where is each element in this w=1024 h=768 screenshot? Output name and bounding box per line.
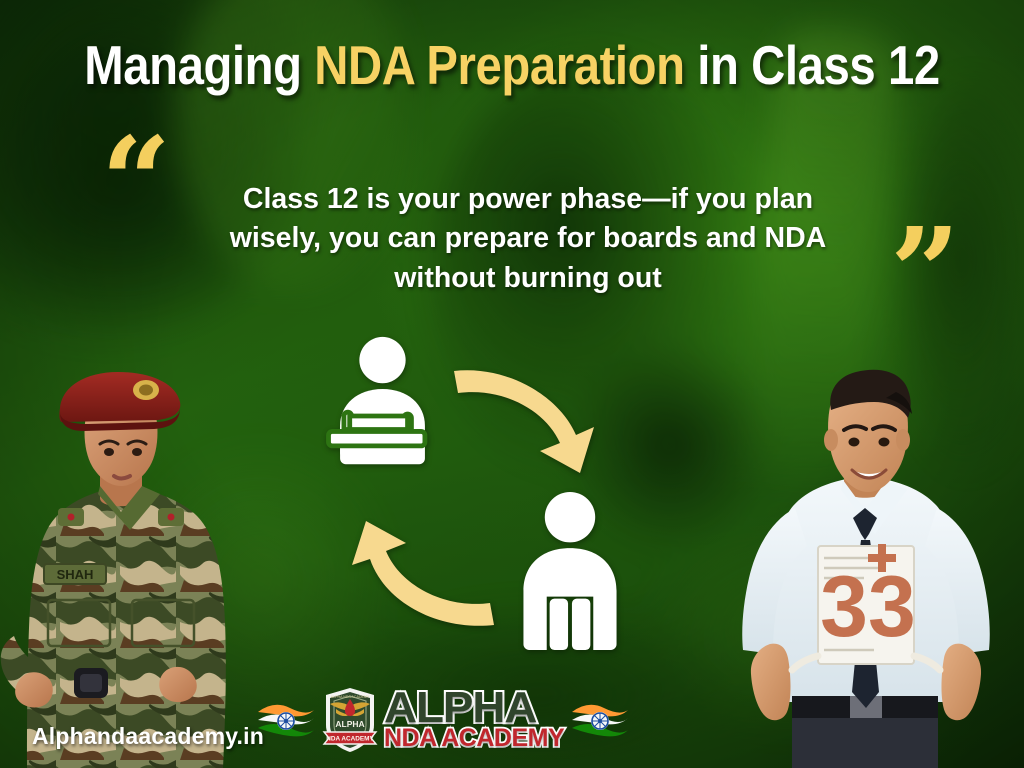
army-officer-photo: SHAH	[0, 368, 246, 768]
brand-lockup: ALPHA NDA ACADEMY ALPHA NDA ACADEMY ALPH…	[256, 684, 656, 756]
badge-main-text: ALPHA	[335, 719, 364, 729]
preparation-cycle-graphic	[300, 330, 680, 690]
website-label: Alphandaacademy.in	[32, 723, 264, 750]
quote-close-icon: ”	[890, 211, 956, 333]
student-studying-icon	[315, 335, 450, 470]
quote-line-2: wisely, you can prepare for boards and N…	[190, 219, 866, 258]
academy-badge-icon: ALPHA NDA ACADEMY ALPHA NDA ACADEMY	[322, 686, 378, 754]
quote-line-1: Class 12 is your power phase—if you plan	[190, 180, 866, 219]
chest-number-text: 33	[820, 559, 916, 655]
title-part-2: in Class 12	[685, 34, 940, 96]
curved-arrow-left-icon	[336, 515, 501, 640]
poster-canvas: Managing NDA Preparation in Class 12 “ ”…	[0, 0, 1024, 768]
badge-ribbon-text: NDA ACADEMY	[326, 736, 374, 743]
ssb-candidate-photo: 33	[700, 368, 1024, 768]
page-title: Managing NDA Preparation in Class 12	[72, 38, 953, 93]
brand-name-main: ALPHA	[384, 688, 571, 728]
title-part-1: Managing	[84, 34, 314, 96]
quote-text: Class 12 is your power phase—if you plan…	[190, 180, 866, 298]
officer-nameplate-text: SHAH	[57, 567, 94, 582]
brand-wordmark: ALPHA NDA ACADEMY	[384, 688, 564, 751]
title-highlight: NDA Preparation	[314, 34, 684, 96]
curved-arrow-right-icon	[448, 355, 603, 480]
svg-text:ALPHA NDA ACADEMY: ALPHA NDA ACADEMY	[331, 695, 370, 699]
quote-open-icon: “	[101, 120, 167, 242]
india-flag-icon	[570, 700, 630, 740]
india-flag-icon	[256, 700, 316, 740]
quote-line-3: without burning out	[190, 259, 866, 298]
standing-person-icon	[505, 490, 635, 650]
